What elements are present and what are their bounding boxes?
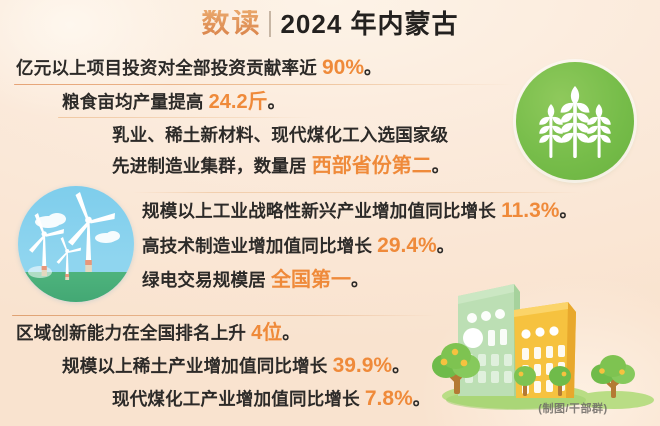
- stat-line-8-text: 区域创新能力在全国排名上升: [16, 323, 251, 343]
- stat-line-5: 规模以上工业战略性新兴产业增加值同比增长 11.3%。: [142, 200, 577, 221]
- page-title: 2024 年内蒙古: [280, 11, 458, 37]
- separator-4: [12, 315, 436, 316]
- header-mark: 数读: [201, 10, 269, 38]
- stat-line-5-text: 规模以上工业战略性新兴产业增加值同比增长: [142, 201, 501, 221]
- stat-line-1: 亿元以上项目投资对全部投资贡献率近 90%。: [16, 57, 382, 78]
- stat-line-5-value: 11.3%: [501, 199, 559, 222]
- stat-line-9-suffix: 。: [392, 356, 410, 376]
- stat-line-10: 现代煤化工产业增加值同比增长 7.8%。: [112, 388, 430, 409]
- separator-3: [132, 192, 580, 193]
- stat-line-3-text: 乳业、稀土新材料、现代煤化工入选国家级: [112, 125, 448, 145]
- wheat-icon: [516, 62, 634, 180]
- stat-line-9-value: 39.9%: [333, 354, 393, 377]
- header-divider: [269, 11, 271, 37]
- stat-line-8: 区域创新能力在全国排名上升 4位。: [16, 323, 300, 343]
- stat-line-2-value: 24.2斤: [209, 91, 268, 113]
- stat-line-1-value: 90%: [322, 56, 364, 79]
- stat-line-10-suffix: 。: [413, 389, 431, 409]
- stat-line-2-text: 粮食亩均产量提高: [62, 92, 209, 112]
- separator-2: [58, 117, 313, 118]
- stat-line-2: 粮食亩均产量提高 24.2斤。: [62, 92, 285, 112]
- stat-line-8-value: 4位: [251, 322, 282, 344]
- stat-line-7-suffix: 。: [351, 270, 369, 290]
- stat-line-4-suffix: 。: [432, 156, 450, 176]
- stat-line-9-text: 规模以上稀土产业增加值同比增长: [62, 356, 333, 376]
- infographic-poster: 数读 2024 年内蒙古: [0, 0, 660, 426]
- stat-line-4-value: 西部省份第二: [312, 155, 432, 177]
- stat-line-6-text: 高技术制造业增加值同比增长: [142, 236, 377, 256]
- stat-line-6: 高技术制造业增加值同比增长 29.4%。: [142, 235, 454, 256]
- stat-line-6-suffix: 。: [437, 236, 455, 256]
- stat-line-4-text: 先进制造业集群，数量居: [112, 156, 312, 176]
- separator-1: [14, 84, 514, 85]
- stat-line-7-text: 绿电交易规模居: [142, 270, 271, 290]
- stat-line-10-value: 7.8%: [365, 387, 413, 410]
- stat-line-3: 乳业、稀土新材料、现代煤化工入选国家级: [112, 127, 448, 145]
- wind-turbine-icon: [18, 186, 134, 302]
- stat-line-4: 先进制造业集群，数量居 西部省份第二。: [112, 156, 449, 176]
- stat-line-9: 规模以上稀土产业增加值同比增长 39.9%。: [62, 355, 410, 376]
- stat-line-1-text: 亿元以上项目投资对全部投资贡献率近: [16, 58, 322, 78]
- stat-line-6-value: 29.4%: [377, 234, 437, 257]
- stat-line-10-text: 现代煤化工产业增加值同比增长: [112, 389, 365, 409]
- stat-line-1-suffix: 。: [364, 58, 382, 78]
- stat-line-7: 绿电交易规模居 全国第一。: [142, 270, 369, 290]
- stat-line-7-value: 全国第一: [271, 269, 351, 291]
- byline: (制图/干部群): [498, 400, 648, 416]
- stat-line-5-suffix: 。: [559, 201, 577, 221]
- page-header: 数读 2024 年内蒙古: [0, 4, 660, 44]
- stat-line-8-suffix: 。: [282, 323, 300, 343]
- stat-line-2-suffix: 。: [268, 92, 286, 112]
